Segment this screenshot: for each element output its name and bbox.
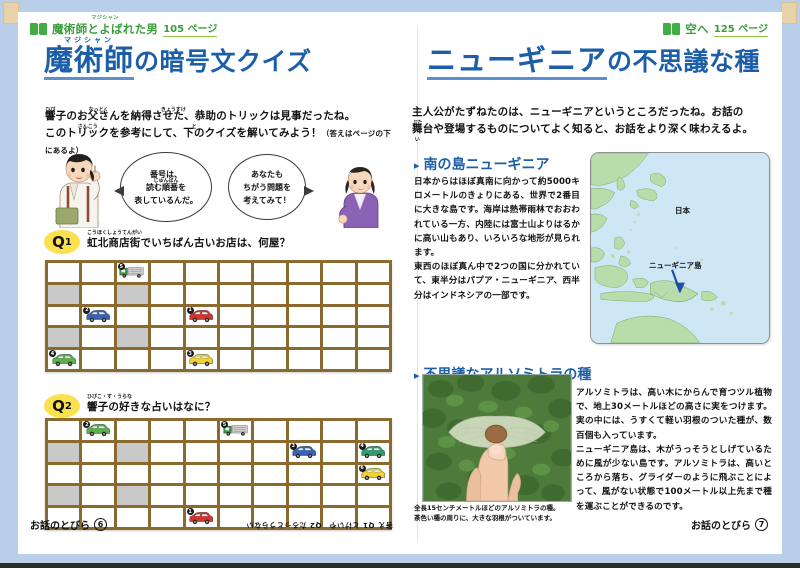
q1-label: Q (52, 233, 65, 251)
grid-cell[interactable] (254, 263, 285, 282)
page-spread: マジシャン 魔術師とよばれた男 105 ページ マジシャン 魔術師 の暗号文クイ… (0, 0, 800, 568)
grid-cell[interactable]: 5 (117, 263, 148, 282)
ruby-sanko: さんこう (45, 119, 131, 136)
grid-cell[interactable] (254, 350, 285, 369)
question-2-text: ひびこ・す・うらな 響子の好きな占いはなに？ (87, 399, 215, 414)
book-icon (663, 23, 680, 35)
bottom-dark-band (0, 563, 800, 568)
grid-cell[interactable] (358, 486, 389, 505)
grid-cell[interactable] (151, 486, 182, 505)
grid-cell[interactable] (323, 421, 354, 440)
page-title-main-right: ニューギニア (427, 46, 607, 80)
grid-cell[interactable] (48, 421, 79, 440)
chapter-title-left: マジシャン 魔術師とよばれた男 (52, 21, 158, 37)
grid-cell[interactable] (358, 328, 389, 347)
grid-cell[interactable] (254, 465, 285, 484)
lead-2c: いてみよう！ (258, 127, 322, 139)
grid-cell[interactable] (289, 307, 320, 326)
grid-cell[interactable] (117, 443, 148, 462)
grid-cell[interactable] (289, 486, 320, 505)
grid-cell[interactable]: 2 (82, 421, 113, 440)
grid-cell[interactable] (117, 350, 148, 369)
page-title-main-text: 魔術師 (44, 43, 134, 77)
grid-cell[interactable] (323, 350, 354, 369)
grid-cell[interactable] (289, 285, 320, 304)
lead-paragraph-right: 主人公がたずねたのは、ニューギニアというところだったね。お話の ぶたい舞台や登場… (412, 104, 772, 138)
page-title-rest: の暗号文クイズ (134, 47, 312, 76)
grid-cell[interactable]: 4 (358, 443, 389, 462)
grid-cell[interactable] (220, 465, 251, 484)
footer-right: お話のとびら 7 (691, 517, 768, 532)
right-lead-line-1: 主人公がたずねたのは、ニューギニアというところだったね。お話の (412, 104, 772, 121)
chapter-page-ref-left: 105 ページ (163, 20, 217, 37)
q1-ruby: こうほくしょうてんがい (87, 229, 147, 236)
page-title-left: マジシャン 魔術師 の暗号文クイズ (44, 46, 312, 80)
vehicle-number-marker: 5 (221, 421, 228, 428)
ruby-nattoku: なっとく (56, 102, 142, 119)
ruby-junban: じゅんばん (146, 175, 186, 188)
grid-cell[interactable] (289, 465, 320, 484)
ruby-hibi: ひび (45, 102, 56, 119)
right-bookmark-tab (781, 2, 797, 24)
grid-cell[interactable]: 1 (186, 508, 217, 527)
top-band (0, 0, 800, 12)
footer-left-page-number: 6 (94, 518, 107, 531)
vehicle-number-marker: 6 (359, 465, 366, 472)
question-2-badge: Q2 (44, 394, 80, 418)
footer-left: お話のとびら 6 (30, 517, 107, 532)
vehicle-number-marker: 5 (118, 263, 125, 270)
boy-character-illustration (48, 152, 114, 228)
section-1-heading: 南の島ニューギニア (414, 154, 550, 174)
grid-cell[interactable] (48, 328, 79, 347)
vehicle-number-marker: 3 (290, 443, 297, 450)
grid-cell[interactable] (358, 421, 389, 440)
grid-cell[interactable] (186, 421, 217, 440)
grid-cell[interactable]: 5 (220, 421, 251, 440)
balloon2-line1: あなたも (251, 168, 283, 181)
right-lead-line-2: ぶたい舞台や登場するものについてよく知ると、お話をより深く味わえるよ。 (412, 121, 772, 138)
grid-cell[interactable] (186, 328, 217, 347)
page-title-right: ニューギニアの不思議な種 (427, 46, 760, 80)
ruby-kyosuke: きょうすけ (141, 102, 205, 119)
footer-right-page-number: 7 (755, 518, 768, 531)
grid-cell[interactable] (220, 328, 251, 347)
grid-cell[interactable] (220, 263, 251, 282)
grid-cell[interactable] (186, 465, 217, 484)
section-2-paragraph-2: ニューギニア島は、木がうっそうとしげているために風が少ない島です。アルソミトラは… (576, 443, 772, 514)
chapter-page-ref-right: 125 ページ (714, 20, 768, 37)
q2-grid-cells: 253461 (48, 421, 389, 527)
grid-cell[interactable] (358, 285, 389, 304)
map-label-japan: 日本 (675, 205, 690, 216)
page-title-ruby: マジシャン (44, 37, 134, 44)
vehicle-number-marker: 1 (187, 508, 194, 515)
grid-cell[interactable] (254, 443, 285, 462)
grid-cell[interactable] (151, 443, 182, 462)
grid-cell[interactable] (323, 328, 354, 347)
balloon1-tail (114, 186, 124, 196)
q2-label: Q (52, 397, 65, 415)
alsomitra-seed-photo (422, 374, 572, 502)
grid-cell[interactable] (117, 508, 148, 527)
grid-cell[interactable] (323, 486, 354, 505)
grid-cell[interactable] (48, 486, 79, 505)
page-title-rest-right: の不思議な種 (607, 47, 760, 76)
balloon1-line3: 表しているんだ。 (134, 194, 198, 207)
chapter-title-ruby: マジシャン (52, 14, 158, 21)
grid-cell[interactable]: 3 (186, 350, 217, 369)
left-page: マジシャン 魔術師とよばれた男 105 ページ マジシャン 魔術師 の暗号文クイ… (18, 12, 400, 554)
q1-puzzle-grid[interactable]: 52143 (45, 260, 392, 372)
grid-cell[interactable] (82, 486, 113, 505)
paper-sheet: マジシャン 魔術師とよばれた男 105 ページ マジシャン 魔術師 の暗号文クイ… (18, 12, 782, 554)
grid-cell[interactable] (289, 421, 320, 440)
characters-scene: 番号は、 じゅんばん読む順番を 表しているんだ。 あなたも ちがう問題を 考えて… (38, 150, 398, 228)
grid-cell[interactable] (48, 443, 79, 462)
map-label-new-guinea: ニューギニア島 (649, 260, 702, 271)
left-edge-band (0, 0, 18, 568)
answers-upside-down: 答え Q1 とけいや Q2 たろっとうらない (246, 520, 393, 530)
grid-cell[interactable] (358, 263, 389, 282)
grid-cell[interactable] (289, 328, 320, 347)
vehicle-number-marker: 4 (359, 443, 366, 450)
grid-cell[interactable] (186, 443, 217, 462)
question-1-text: こうほくしょうてんがい 虹北商店街でいちばん古いお店は、何屋？ (87, 235, 290, 250)
grid-cell[interactable] (220, 285, 251, 304)
section-1-paragraph-2: 東西のほぼ真ん中で2つの国に分かれていて、東半分はパプア・ニューギニア、西半分は… (414, 260, 580, 303)
ruby-to: と (131, 119, 258, 136)
grid-cell[interactable]: 2 (82, 307, 113, 326)
chapter-title-text: 魔術師とよばれた男 (52, 22, 158, 36)
grid-cell[interactable] (117, 465, 148, 484)
balloon2-tail (304, 186, 314, 196)
grid-cell[interactable] (82, 285, 113, 304)
right-edge-band (782, 0, 800, 568)
map-region: 日本 ニューギニア島 (590, 152, 770, 344)
q2-puzzle-grid[interactable]: 253461 (45, 418, 392, 530)
grid-cell[interactable] (82, 443, 113, 462)
vehicle-number-marker: 3 (187, 350, 194, 357)
grid-cell[interactable] (117, 285, 148, 304)
chapter-header-left: マジシャン 魔術師とよばれた男 105 ページ (30, 20, 217, 37)
section-1-body: 日本からはほぼ真南に向かって約5000キロメートルのきょりにある、世界で2番目に… (414, 175, 580, 303)
book-icon (30, 23, 47, 35)
q2-number: 2 (65, 401, 72, 412)
grid-cell[interactable] (186, 285, 217, 304)
grid-cell[interactable] (220, 307, 251, 326)
section-2-paragraph-1: アルソミトラは、高い木にからんで育つツル植物で、地上30メートルほどの高さに実を… (576, 386, 772, 443)
chapter-header-right: 空へ 125 ページ (663, 20, 768, 37)
grid-cell[interactable]: 4 (48, 350, 79, 369)
map-illustration (591, 153, 769, 343)
photo-caption: 全長15センチメートルほどのアルソミトラの種。 茶色い種の周りに、大きな羽根がつ… (414, 504, 594, 523)
grid-cell[interactable] (186, 486, 217, 505)
grid-cell[interactable] (358, 350, 389, 369)
grid-cell[interactable] (254, 307, 285, 326)
vehicle-number-marker: 2 (83, 307, 90, 314)
grid-cell[interactable] (254, 486, 285, 505)
seed-photo-illustration (423, 375, 571, 501)
grid-cell[interactable] (117, 421, 148, 440)
photo-caption-line-1: 全長15センチメートルほどのアルソミトラの種。 (414, 504, 594, 514)
grid-cell[interactable] (186, 263, 217, 282)
photo-caption-line-2: 茶色い種の周りに、大きな羽根がついています。 (414, 514, 594, 524)
right-page: 空へ 125 ページ ニューギニアの不思議な種 主人公がたずねたのは、ニューギニ… (400, 12, 782, 554)
page-title-main: マジシャン 魔術師 (44, 46, 134, 80)
grid-cell[interactable] (151, 465, 182, 484)
speech-balloon-boy: 番号は、 じゅんばん読む順番を 表しているんだ。 (120, 152, 212, 222)
grid-cell[interactable] (48, 263, 79, 282)
balloon2-line2: ちがう問題を (243, 181, 291, 194)
grid-cell[interactable] (254, 421, 285, 440)
footer-right-text: お話のとびら (691, 517, 751, 532)
grid-cell[interactable] (151, 307, 182, 326)
question-1-badge: Q1 (44, 230, 80, 254)
grid-cell[interactable]: 1 (186, 307, 217, 326)
girl-character-illustration (334, 166, 386, 228)
section-1-paragraph-1: 日本からはほぼ真南に向かって約5000キロメートルのきょりにある、世界で2番目に… (414, 175, 580, 260)
question-2-row: Q2 ひびこ・す・うらな 響子の好きな占いはなに？ (44, 394, 215, 418)
grid-cell[interactable] (254, 285, 285, 304)
grid-cell[interactable] (289, 263, 320, 282)
left-bookmark-tab (3, 2, 19, 24)
grid-cell[interactable] (220, 486, 251, 505)
grid-cell[interactable] (323, 465, 354, 484)
vehicle-number-marker: 1 (187, 307, 194, 314)
grid-cell[interactable] (82, 328, 113, 347)
grid-cell[interactable] (151, 285, 182, 304)
grid-cell[interactable] (82, 263, 113, 282)
grid-cell[interactable] (323, 285, 354, 304)
section-1-heading-text: 南の島ニューギニア (424, 154, 550, 174)
grid-cell[interactable] (151, 328, 182, 347)
grid-cell[interactable] (117, 486, 148, 505)
grid-cell[interactable] (323, 263, 354, 282)
question-1-row: Q1 こうほくしょうてんがい 虹北商店街でいちばん古いお店は、何屋？ (44, 230, 290, 254)
grid-cell[interactable] (48, 465, 79, 484)
grid-cell[interactable] (151, 508, 182, 527)
grid-cell[interactable] (48, 285, 79, 304)
grid-cell[interactable] (151, 421, 182, 440)
grid-cell[interactable] (220, 350, 251, 369)
grid-cell[interactable] (82, 465, 113, 484)
section-2-body: アルソミトラは、高い木にからんで育つツル植物で、地上30メートルほどの高さに実を… (576, 386, 772, 514)
q2-ruby: ひびこ・す・うらな (87, 393, 157, 400)
grid-cell[interactable] (323, 443, 354, 462)
q1-number: 1 (65, 237, 72, 248)
grid-cell[interactable] (254, 328, 285, 347)
speech-balloon-girl: あなたも ちがう問題を 考えてみて！ (228, 154, 306, 220)
grid-cell[interactable] (358, 307, 389, 326)
grid-cell[interactable] (82, 350, 113, 369)
q1-grid-cells: 52143 (48, 263, 389, 369)
footer-left-text: お話のとびら (30, 517, 90, 532)
right-lead-2b: 台や登場するものについてよく知ると、お話をより深く味わえるよ。 (423, 123, 753, 135)
ruby-butai: ぶたい (412, 115, 423, 149)
grid-cell[interactable] (151, 263, 182, 282)
grid-cell[interactable] (117, 307, 148, 326)
grid-cell[interactable]: 3 (289, 443, 320, 462)
grid-cell[interactable] (289, 350, 320, 369)
balloon1-line2: じゅんばん読む順番を (146, 181, 186, 194)
grid-cell[interactable] (117, 328, 148, 347)
grid-cell[interactable]: 6 (358, 465, 389, 484)
balloon2-line3: 考えてみて！ (243, 194, 291, 207)
grid-cell[interactable] (48, 307, 79, 326)
grid-cell[interactable] (220, 443, 251, 462)
grid-cell[interactable] (323, 307, 354, 326)
chapter-title-right: 空へ (685, 21, 709, 37)
grid-cell[interactable] (151, 350, 182, 369)
